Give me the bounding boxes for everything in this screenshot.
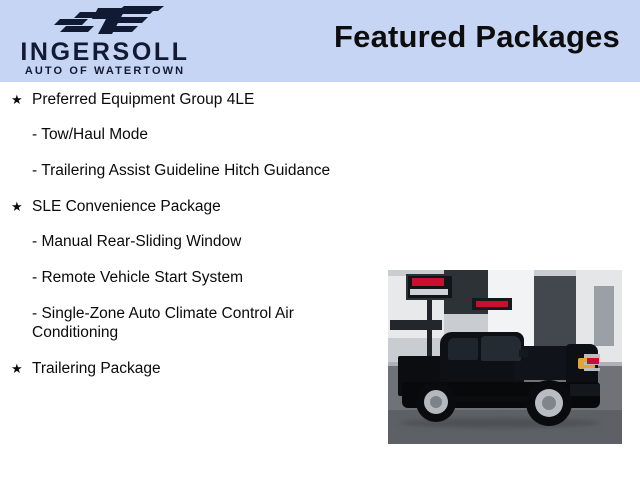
truck-gmc-emblem	[587, 358, 599, 364]
package-group-item: ★ SLE Convenience Package	[9, 197, 369, 216]
package-feature-item: - Manual Rear-Sliding Window	[9, 232, 369, 251]
featured-packages-list: ★ Preferred Equipment Group 4LE - Tow/Ha…	[9, 90, 369, 394]
truck-front-bumper	[570, 384, 600, 396]
package-group-label: SLE Convenience Package	[32, 197, 369, 216]
package-feature-item: - Tow/Haul Mode	[9, 125, 369, 144]
package-group-item: ★ Preferred Equipment Group 4LE	[9, 90, 369, 109]
ingersoll-winged-monogram-icon	[52, 5, 168, 37]
content-area: ★ Preferred Equipment Group 4LE - Tow/Ha…	[0, 82, 640, 480]
truck-rear-hub	[430, 396, 442, 408]
truck-front-window	[481, 336, 521, 361]
truck-front-hub	[542, 396, 556, 410]
package-feature-label: - Remote Vehicle Start System	[32, 268, 369, 287]
package-feature-item: - Trailering Assist Guideline Hitch Guid…	[9, 161, 369, 180]
photo-building-window	[594, 286, 614, 346]
package-feature-item: - Single-Zone Auto Climate Control Air C…	[9, 304, 369, 342]
package-group-label: Trailering Package	[32, 359, 369, 378]
brand-tagline: AUTO OF WATERTOWN	[6, 66, 204, 77]
vehicle-photo	[388, 270, 622, 444]
brand-wordmark: INGERSOLL	[6, 40, 204, 65]
star-bullet-icon: ★	[11, 360, 23, 378]
page-title: Featured Packages	[334, 17, 620, 57]
package-feature-label: - Trailering Assist Guideline Hitch Guid…	[32, 161, 369, 180]
package-group-item: ★ Trailering Package	[9, 359, 369, 378]
photo-gmc-sign-logo	[412, 278, 444, 286]
photo-dealer-wall-name	[390, 320, 442, 330]
truck-rear-window	[448, 338, 478, 360]
star-bullet-icon: ★	[11, 198, 23, 216]
package-feature-item: - Remote Vehicle Start System	[9, 268, 369, 287]
package-feature-label: - Manual Rear-Sliding Window	[32, 232, 369, 251]
package-feature-label: - Single-Zone Auto Climate Control Air C…	[32, 304, 369, 342]
star-bullet-icon: ★	[11, 91, 23, 109]
truck-grille-bar	[584, 368, 600, 371]
package-group-label: Preferred Equipment Group 4LE	[32, 90, 369, 109]
dealer-brand-block: INGERSOLL AUTO OF WATERTOWN	[0, 2, 210, 80]
photo-wall-gmc-logo	[476, 301, 508, 307]
page-header: INGERSOLL AUTO OF WATERTOWN Featured Pac…	[0, 0, 640, 82]
package-feature-label: - Tow/Haul Mode	[32, 125, 369, 144]
photo-dealer-sign-name	[410, 289, 448, 295]
truck-running-board	[454, 396, 530, 402]
truck-side-mirror	[519, 350, 528, 357]
